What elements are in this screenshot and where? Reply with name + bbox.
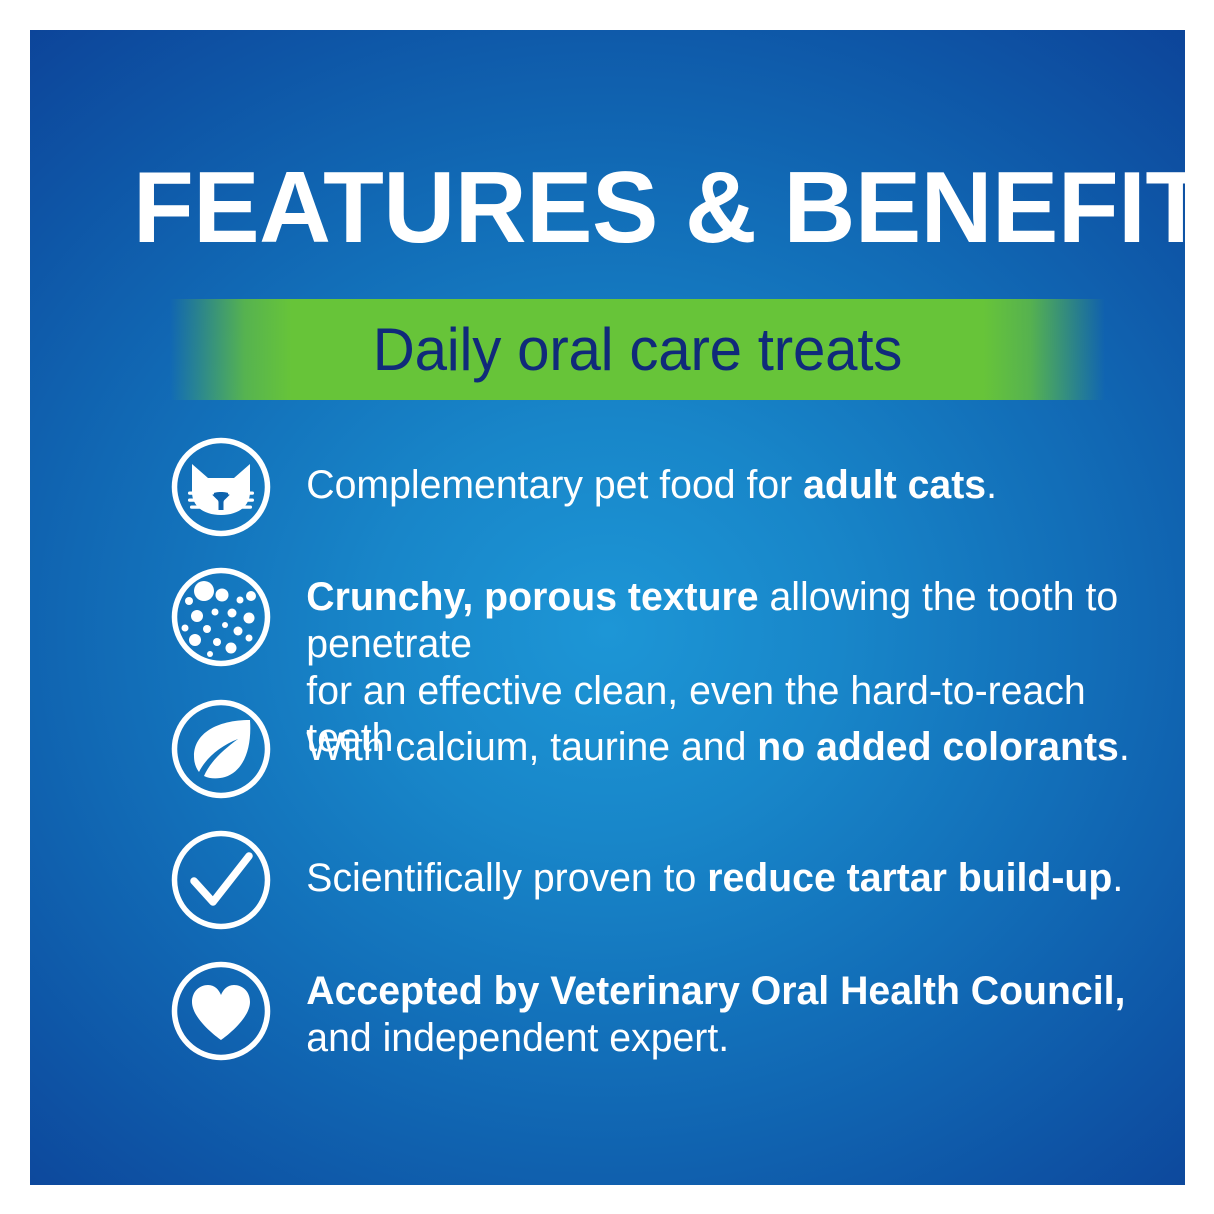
features-benefits-panel: FEATURES & BENEFITS Daily oral care trea… — [30, 30, 1185, 1185]
text-run: . — [1112, 856, 1123, 900]
list-item: Scientifically proven to reduce tartar b… — [140, 829, 1150, 960]
list-item-text: With calcium, taurine and no added color… — [272, 698, 1132, 771]
text-run-bold: adult cats — [803, 463, 986, 507]
subtitle-text: Daily oral care treats — [184, 299, 1091, 400]
list-item: Complementary pet food for adult cats. — [140, 436, 1150, 566]
list-item-text: Complementary pet food for adult cats. — [272, 436, 1132, 509]
list-item: With calcium, taurine and no added color… — [140, 698, 1150, 829]
text-run: . — [986, 463, 997, 507]
text-run: . — [1119, 725, 1130, 769]
heart-icon — [170, 960, 272, 1062]
porous-kibble-icon — [170, 566, 272, 668]
list-item-text: Scientifically proven to reduce tartar b… — [272, 829, 1132, 902]
text-run: Complementary pet food for — [306, 463, 803, 507]
cat-face-icon — [170, 436, 272, 538]
text-run-bold: Accepted by Veterinary Oral Health Counc… — [306, 969, 1125, 1013]
list-item: Crunchy, porous texture allowing the too… — [140, 566, 1150, 698]
page-title: FEATURES & BENEFITS — [133, 156, 1128, 260]
text-line: Crunchy, porous texture allowing the too… — [306, 574, 1132, 668]
list-item-text: Accepted by Veterinary Oral Health Counc… — [272, 960, 1132, 1062]
text-run: Scientifically proven to — [306, 856, 707, 900]
text-line: and independent expert. — [306, 1015, 1132, 1062]
text-line: Complementary pet food for adult cats. — [306, 462, 1132, 509]
text-line: Scientifically proven to reduce tartar b… — [306, 855, 1132, 902]
checkmark-icon — [170, 829, 272, 931]
feature-list: Complementary pet food for adult cats. — [140, 436, 1150, 1090]
subtitle-banner: Daily oral care treats — [170, 299, 1105, 400]
text-run: With calcium, taurine and — [306, 725, 757, 769]
text-line: With calcium, taurine and no added color… — [306, 724, 1132, 771]
text-line: Accepted by Veterinary Oral Health Counc… — [306, 968, 1132, 1015]
text-run: and independent expert. — [306, 1016, 729, 1060]
text-run-bold: Crunchy, porous texture — [306, 575, 758, 619]
text-run-bold: reduce tartar build-up — [707, 856, 1112, 900]
leaf-icon — [170, 698, 272, 800]
list-item: Accepted by Veterinary Oral Health Counc… — [140, 960, 1150, 1090]
text-run-bold: no added colorants — [757, 725, 1119, 769]
